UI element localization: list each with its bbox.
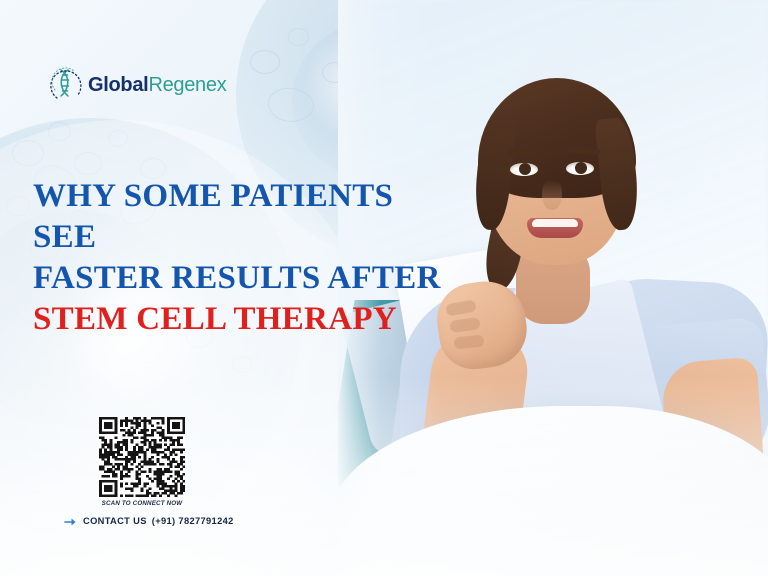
brand-logo[interactable]: GlobalRegenex: [50, 66, 226, 104]
page-title: WHY SOME PATIENTS SEE FASTER RESULTS AFT…: [33, 176, 463, 340]
logo-wordmark: GlobalRegenex: [88, 75, 226, 95]
contact-bar[interactable]: CONTACT US(+91) 7827791242: [64, 515, 234, 527]
contact-label: CONTACT US: [83, 516, 147, 526]
headline-line-3: STEM CELL THERAPY: [33, 299, 463, 340]
qr-caption: SCAN TO CONNECT NOW: [99, 500, 185, 507]
contact-country-code: (+91): [152, 516, 176, 526]
logo-secondary-text: Regenex: [148, 74, 226, 96]
cell-ring: [288, 28, 309, 46]
promotional-poster: GlobalRegenex WHY SOME PATIENTS SEE FAST…: [0, 0, 768, 576]
qr-block[interactable]: SCAN TO CONNECT NOW: [99, 417, 185, 507]
logo-primary-text: Global: [88, 74, 148, 96]
contact-text: CONTACT US(+91) 7827791242: [83, 516, 234, 526]
headline-line-2: FASTER RESULTS AFTER: [33, 258, 463, 299]
headline-line-1: WHY SOME PATIENTS SEE: [33, 176, 463, 258]
arrow-right-icon: [64, 515, 78, 527]
cell-ring: [250, 50, 280, 74]
contact-phone: 7827791242: [178, 516, 233, 526]
qr-code-icon[interactable]: [99, 417, 185, 497]
dna-helix-icon: [50, 66, 84, 104]
